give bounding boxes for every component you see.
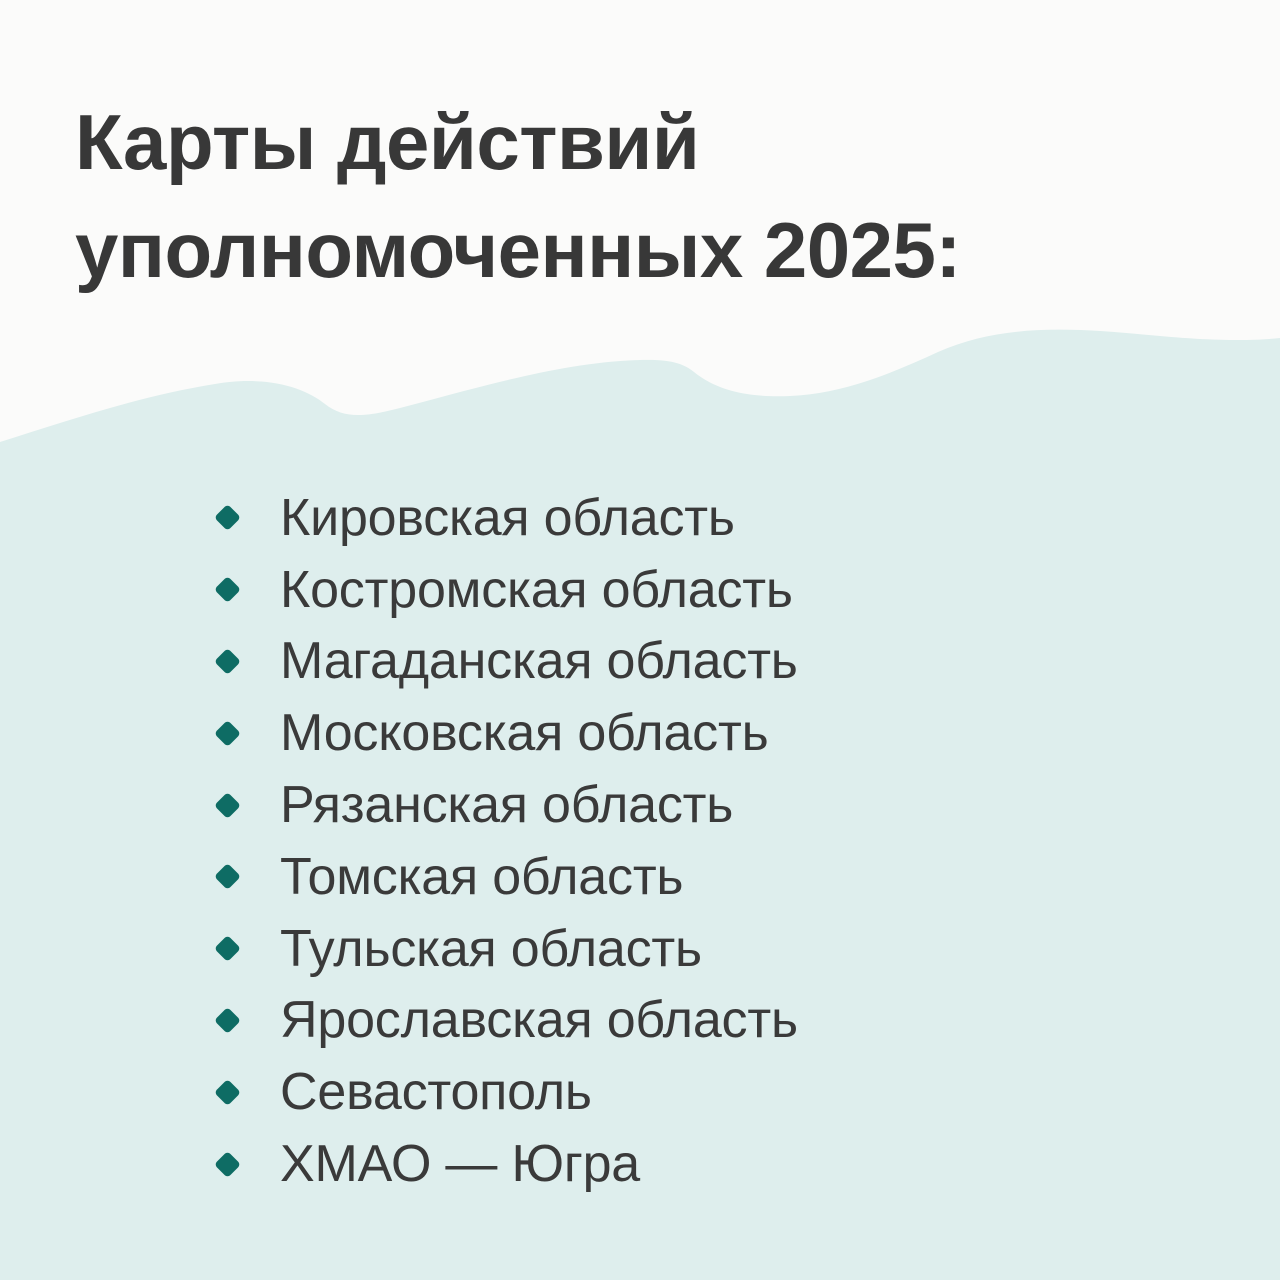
region-list: Кировская область Костромская область Ма… (218, 482, 798, 1200)
list-item-label: Магаданская область (280, 632, 798, 690)
diamond-bullet-icon (214, 504, 241, 531)
list-item-label: Тульская область (280, 920, 702, 978)
list-item-label: Рязанская область (280, 776, 733, 834)
diamond-bullet-icon (214, 792, 241, 819)
list-item: Томская область (218, 841, 798, 913)
diamond-bullet-icon (214, 863, 241, 890)
list-item: Севастополь (218, 1056, 798, 1128)
diamond-bullet-icon (214, 935, 241, 962)
list-item: Кировская область (218, 482, 798, 554)
diamond-bullet-icon (214, 648, 241, 675)
list-item: Московская область (218, 697, 798, 769)
diamond-bullet-icon (214, 1151, 241, 1178)
page-title-line-2: уполномоченных 2025: (75, 196, 1195, 304)
diamond-bullet-icon (214, 576, 241, 603)
list-item-label: Костромская область (280, 561, 793, 619)
page-title: Карты действий уполномоченных 2025: (75, 88, 1195, 304)
list-item-label: Севастополь (280, 1063, 592, 1121)
list-item-label: ХМАО — Югра (280, 1135, 640, 1193)
diamond-bullet-icon (214, 1079, 241, 1106)
list-item: ХМАО — Югра (218, 1128, 798, 1200)
list-item: Тульская область (218, 913, 798, 985)
poster-canvas: Карты действий уполномоченных 2025: Киро… (0, 0, 1280, 1280)
diamond-bullet-icon (214, 720, 241, 747)
list-item: Рязанская область (218, 769, 798, 841)
page-title-line-1: Карты действий (75, 88, 1195, 196)
list-item-label: Московская область (280, 704, 768, 762)
diamond-bullet-icon (214, 1007, 241, 1034)
list-item-label: Ярославская область (280, 991, 798, 1049)
list-item: Магаданская область (218, 626, 798, 698)
list-item: Костромская область (218, 554, 798, 626)
list-item-label: Томская область (280, 848, 683, 906)
list-item: Ярославская область (218, 985, 798, 1057)
list-item-label: Кировская область (280, 489, 735, 547)
